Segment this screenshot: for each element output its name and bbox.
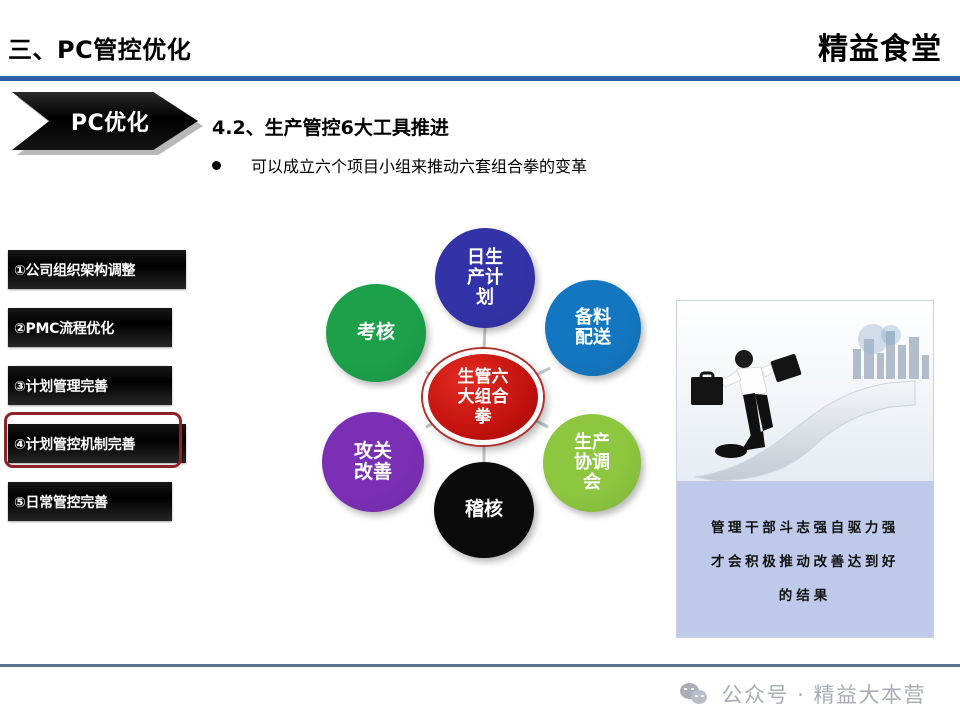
step-item-label: ①公司组织架构调整 bbox=[8, 260, 135, 280]
step-item-label: ②PMC流程优化 bbox=[8, 318, 114, 338]
banner-label: PC优化 bbox=[71, 105, 149, 137]
step-item-2[interactable]: ②PMC流程优化 bbox=[8, 308, 172, 347]
caption-line: 的结果 bbox=[779, 584, 832, 604]
panel-caption: 管理干部斗志强自驱力强才会积极推动改善达到好的结果 bbox=[677, 481, 933, 638]
footer-text: 公众号 · 精益大本营 bbox=[721, 679, 926, 709]
photo-illustration bbox=[677, 301, 933, 481]
diagram-node-daily-production-plan: 日生产计划 bbox=[435, 228, 535, 328]
motivation-picture-panel: 管理干部斗志强自驱力强才会积极推动改善达到好的结果 bbox=[676, 300, 934, 638]
diagram-node-label: 攻关改善 bbox=[354, 441, 392, 484]
brand-title: 精益食堂 bbox=[818, 24, 942, 68]
caption-line: 才会积极推动改善达到好 bbox=[711, 550, 899, 570]
pc-optimization-banner: PC优化 bbox=[12, 92, 204, 154]
bullet-text: 可以成立六个项目小组来推动六套组合拳的变革 bbox=[251, 153, 587, 177]
diagram-node-label: 日生产计划 bbox=[467, 248, 503, 308]
diagram-center-node: 生管六大组合拳 bbox=[423, 349, 543, 445]
diagram-node-label: 稽核 bbox=[465, 499, 503, 520]
bullet-row: 可以成立六个项目小组来推动六套组合拳的变革 bbox=[212, 153, 587, 177]
bullet-dot-icon bbox=[212, 161, 221, 170]
diagram-node-assessment: 考核 bbox=[326, 284, 426, 382]
diagram-node-label: 考核 bbox=[357, 322, 395, 343]
diagram-node-material-preparation: 备料配送 bbox=[545, 280, 641, 376]
businessman-running-photo bbox=[677, 301, 933, 481]
diagram-node-label: 生产协调会 bbox=[574, 433, 610, 493]
diagram-center-label: 生管六大组合拳 bbox=[458, 367, 509, 427]
footer: 公众号 · 精益大本营 bbox=[0, 667, 960, 720]
step-item-label: ⑤日常管控完善 bbox=[8, 492, 108, 512]
step-item-3[interactable]: ③计划管理完善 bbox=[8, 366, 172, 405]
step-item-1[interactable]: ①公司组织架构调整 bbox=[8, 250, 186, 289]
step-list: ①公司组织架构调整②PMC流程优化③计划管理完善④计划管控机制完善⑤日常管控完善 bbox=[8, 250, 188, 540]
wechat-icon bbox=[680, 683, 710, 705]
step-item-label: ④计划管控机制完善 bbox=[8, 434, 135, 454]
diagram-node-production-coordination-meeting: 生产协调会 bbox=[543, 414, 641, 512]
diagram-node-label: 备料配送 bbox=[575, 308, 611, 348]
step-item-5[interactable]: ⑤日常管控完善 bbox=[8, 482, 172, 521]
caption-line: 管理干部斗志强自驱力强 bbox=[711, 516, 899, 536]
diagram-node-breakthrough-improvement: 攻关改善 bbox=[322, 412, 424, 512]
subsection-title: 4.2、生产管控6大工具推进 bbox=[212, 113, 449, 140]
step-item-label: ③计划管理完善 bbox=[8, 376, 108, 396]
slide-header: 三、PC管控优化 精益食堂 bbox=[0, 0, 960, 78]
header-divider bbox=[0, 76, 960, 81]
diagram-node-audit: 稽核 bbox=[434, 462, 534, 558]
six-tools-diagram: 生管六大组合拳 日生产计划备料配送考核生产协调会攻关改善稽核 bbox=[300, 222, 680, 562]
step-item-4[interactable]: ④计划管控机制完善 bbox=[8, 424, 186, 463]
page-title: 三、PC管控优化 bbox=[8, 30, 191, 65]
